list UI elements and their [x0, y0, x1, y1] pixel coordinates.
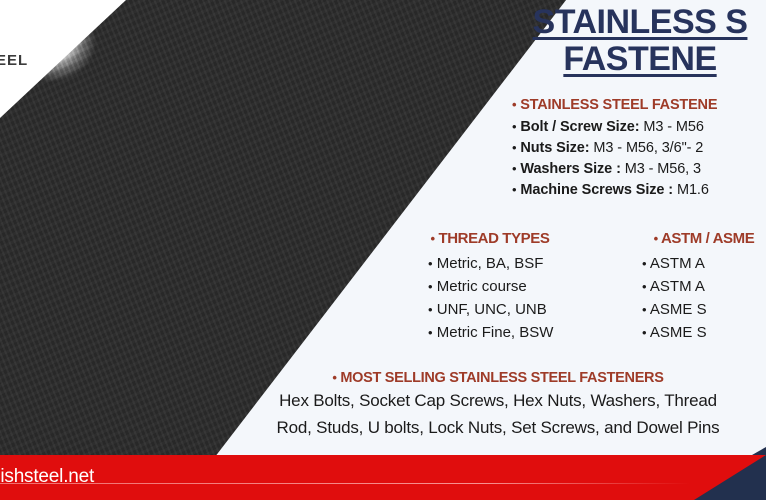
column-heading-label: ASTM / ASME [661, 230, 754, 247]
bullet-icon: • [642, 325, 647, 340]
specifications-heading: • STAINLESS STEEL FASTENE [512, 97, 766, 113]
footer-corner-accent-top [752, 447, 766, 455]
spec-row: • Washers Size : M3 - M56, 3 [512, 161, 766, 177]
spec-row: • Machine Screws Size : M1.6 [512, 182, 766, 198]
spec-row: • Bolt / Screw Size: M3 - M56 [512, 119, 766, 135]
list-item-label: ASME S [650, 301, 707, 318]
list-item: • ASME S [600, 324, 766, 341]
list-item: • ASTM A [600, 278, 766, 295]
bullet-icon: • [428, 279, 433, 294]
bullet-icon: • [428, 256, 433, 271]
spec-label: Washers Size : [520, 161, 620, 177]
most-selling-heading-label: MOST SELLING STAINLESS STEEL FASTENERS [340, 370, 663, 386]
list-item-label: ASTM A [650, 255, 705, 272]
logo-text: EEL [0, 52, 28, 69]
bullet-icon: • [642, 302, 647, 317]
bullet-icon: • [428, 325, 433, 340]
list-item-label: ASME S [650, 324, 707, 341]
list-item: • UNF, UNC, UNB [400, 301, 580, 318]
bullet-icon: • [512, 97, 516, 112]
spec-value: M3 - M56, 3/6"- 2 [593, 140, 703, 156]
feature-columns: • THREAD TYPES • Metric, BA, BSF • Metri… [400, 230, 766, 347]
spec-label: Machine Screws Size : [520, 182, 673, 198]
list-item-label: Metric, BA, BSF [437, 255, 544, 272]
column-astm-asme: • ASTM / ASME • ASTM A • ASTM A • ASME S… [600, 230, 766, 347]
footer-corner-accent [694, 455, 766, 500]
spec-value: M1.6 [677, 182, 709, 198]
title-line-2: FASTENE [430, 41, 766, 78]
bullet-icon: • [431, 231, 435, 246]
list-item-label: Metric Fine, BSW [437, 324, 554, 341]
column-heading: • ASTM / ASME [600, 230, 766, 247]
list-item-label: ASTM A [650, 278, 705, 295]
title-line-1: STAINLESS S [430, 4, 766, 41]
list-item-label: UNF, UNC, UNB [437, 301, 547, 318]
footer-website-url[interactable]: hishsteel.net [0, 466, 94, 488]
spec-row: • Nuts Size: M3 - M56, 3/6"- 2 [512, 140, 766, 156]
bullet-icon: • [428, 302, 433, 317]
spec-value: M3 - M56 [643, 119, 703, 135]
bullet-icon: • [332, 370, 336, 385]
column-heading: • THREAD TYPES [400, 230, 580, 247]
most-selling-line-1: Hex Bolts, Socket Cap Screws, Hex Nuts, … [230, 390, 766, 413]
spec-label: Bolt / Screw Size: [520, 119, 639, 135]
footer-divider-line [0, 483, 690, 484]
bullet-icon: • [512, 182, 516, 197]
specifications-list: • STAINLESS STEEL FASTENE • Bolt / Screw… [512, 97, 766, 203]
bullet-icon: • [512, 140, 516, 155]
bullet-icon: • [642, 256, 647, 271]
list-item: • Metric Fine, BSW [400, 324, 580, 341]
column-heading-label: THREAD TYPES [438, 230, 549, 247]
footer-bar: hishsteel.net [0, 455, 766, 500]
spec-value: M3 - M56, 3 [625, 161, 701, 177]
page-title: STAINLESS S FASTENE [430, 4, 766, 77]
most-selling-section: • MOST SELLING STAINLESS STEEL FASTENERS… [230, 370, 766, 440]
list-item: • Metric, BA, BSF [400, 255, 580, 272]
bullet-icon: • [512, 119, 516, 134]
list-item: • ASME S [600, 301, 766, 318]
bullet-icon: • [512, 161, 516, 176]
bullet-icon: • [642, 279, 647, 294]
column-thread-types: • THREAD TYPES • Metric, BA, BSF • Metri… [400, 230, 580, 347]
list-item: • ASTM A [600, 255, 766, 272]
list-item-label: Metric course [437, 278, 527, 295]
specifications-heading-label: STAINLESS STEEL FASTENE [520, 97, 717, 113]
spec-label: Nuts Size: [520, 140, 589, 156]
banner-root: EEL STAINLESS S FASTENE • STAINLESS STEE… [0, 0, 766, 500]
list-item: • Metric course [400, 278, 580, 295]
bullet-icon: • [654, 231, 658, 246]
most-selling-line-2: Rod, Studs, U bolts, Lock Nuts, Set Scre… [230, 417, 766, 440]
most-selling-heading: • MOST SELLING STAINLESS STEEL FASTENERS [230, 370, 766, 386]
